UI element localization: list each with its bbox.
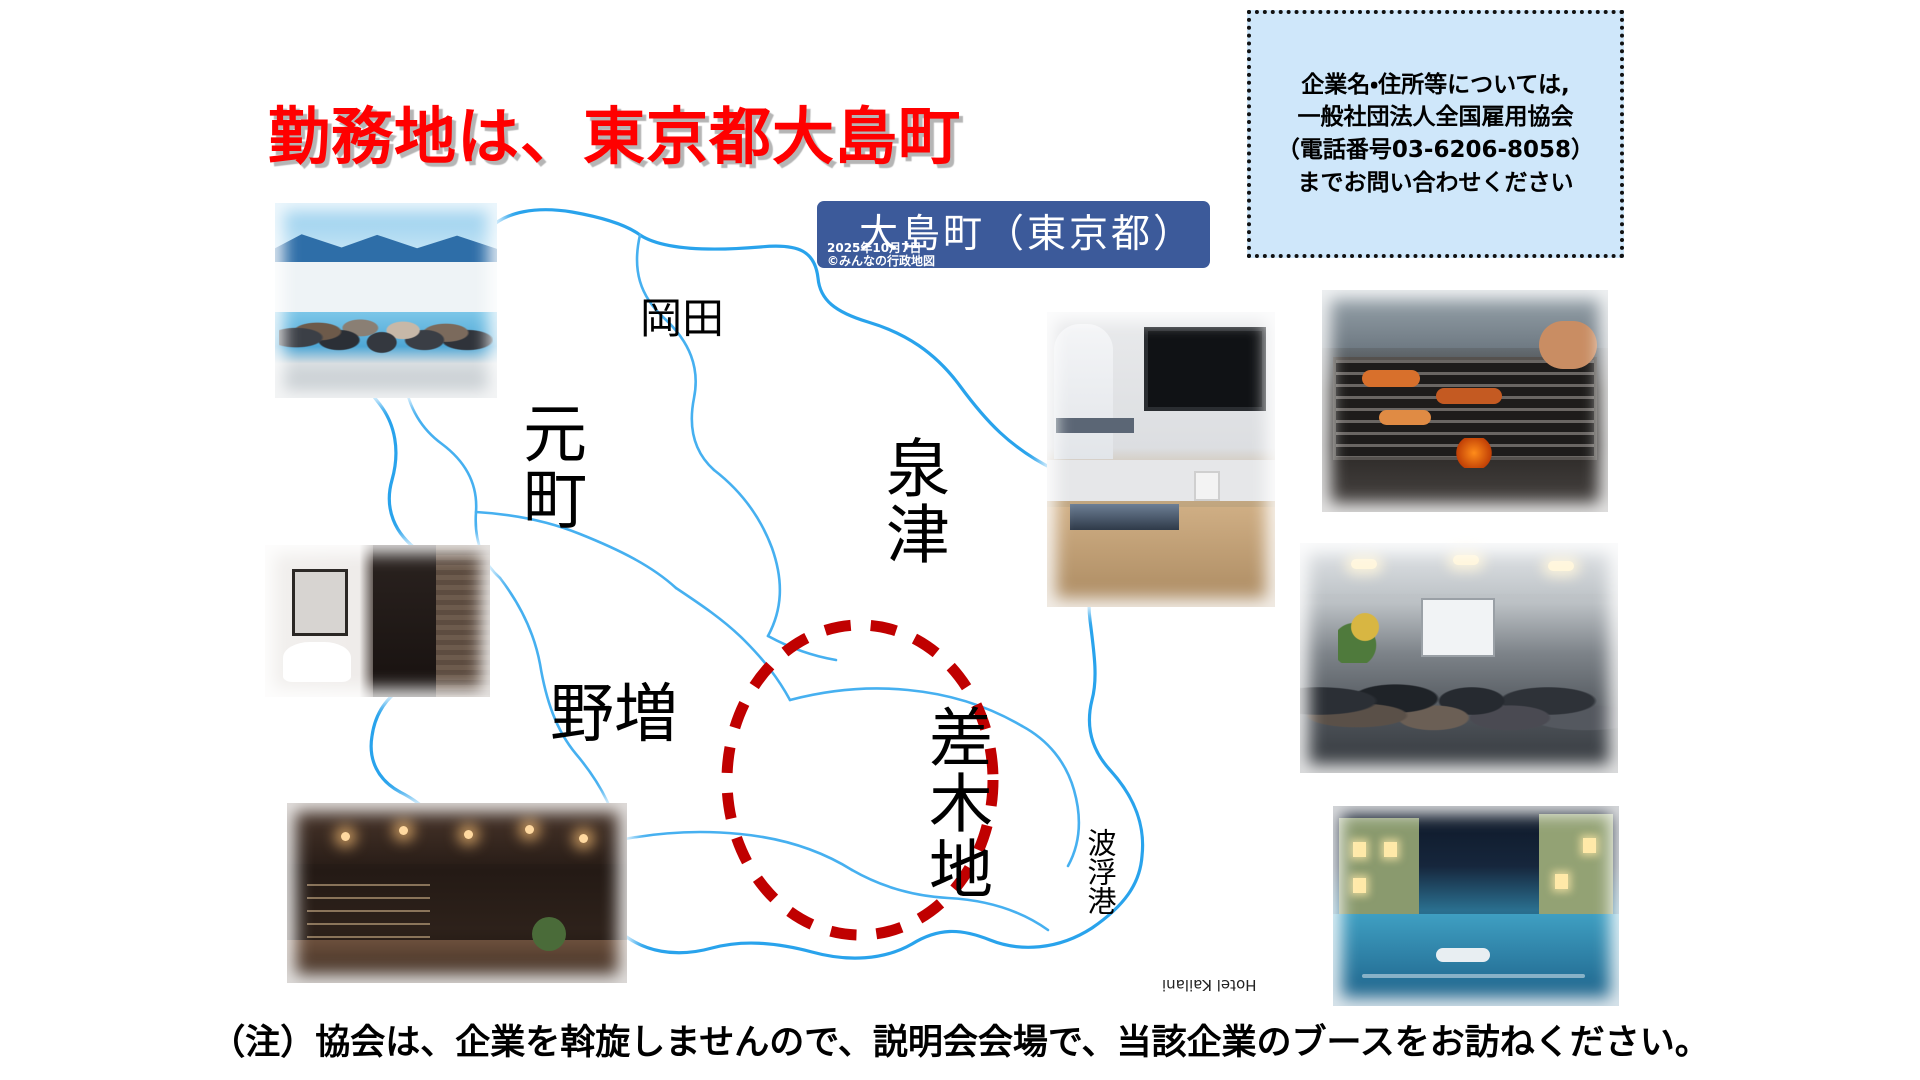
slide-root: 勤務地は、東京都大島町 企業名・住所等については, 一般社団法人全国雇用協会 （…: [0, 0, 1920, 1080]
map-banner-subtext: 2025年10月7日 ©みんなの行政地図: [827, 242, 935, 268]
district-label-okada: 岡田: [640, 298, 724, 340]
map-title-banner: 大島町（東京都） 2025年10月7日 ©みんなの行政地図: [817, 201, 1210, 268]
photo-group-pool: [275, 203, 497, 398]
notice-line-3: （電話番号03-6206-8058）: [1277, 134, 1594, 167]
photo-night-pool: [1333, 806, 1619, 1006]
hotel-watermark: Hotel Kailani: [1162, 976, 1256, 994]
photo-bathroom: [265, 545, 490, 697]
district-label-senzu: 泉津: [880, 435, 944, 567]
photo-seminar: [1300, 543, 1618, 773]
district-label-habuminato: 波浮港: [1085, 828, 1114, 915]
notice-line-4: までお問い合わせください: [1298, 167, 1574, 200]
photo-bbq: [1322, 290, 1608, 512]
contact-notice-box: 企業名・住所等については, 一般社団法人全国雇用協会 （電話番号03-6206-…: [1247, 10, 1624, 258]
footnote-caption: （注）協会は、企業を斡旋しませんので、説明会会場で、当該企業のブースをお訪ねくだ…: [0, 1014, 1920, 1065]
notice-line-2: 一般社団法人全国雇用協会: [1298, 101, 1574, 134]
map-banner-credit: ©みんなの行政地図: [827, 255, 935, 268]
district-label-sashikiji: 差木地: [923, 704, 987, 902]
photo-guest-room: [1047, 312, 1275, 607]
district-label-nomashi: 野増: [550, 683, 678, 747]
district-label-motomachi: 元町: [517, 400, 581, 532]
page-title: 勤務地は、東京都大島町: [268, 86, 961, 176]
photo-lounge-bar: [287, 803, 627, 983]
notice-line-1: 企業名・住所等については,: [1301, 69, 1569, 102]
